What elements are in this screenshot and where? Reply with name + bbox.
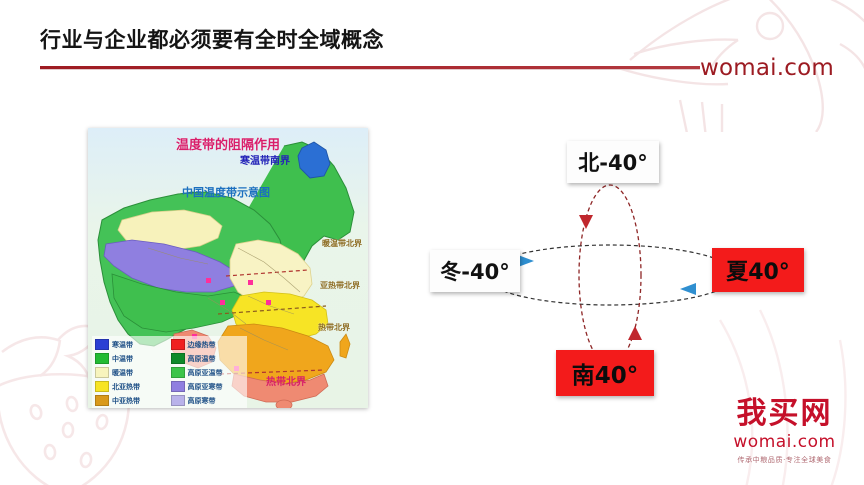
legend-label: 高原亚寒带 bbox=[188, 382, 223, 392]
legend-swatch bbox=[171, 367, 185, 378]
legend-label: 中亚热带 bbox=[112, 396, 140, 406]
legend-item: 边缘热带 bbox=[171, 338, 246, 351]
legend-label: 北亚热带 bbox=[112, 382, 140, 392]
vertical-arrow-up-icon bbox=[628, 326, 642, 340]
footer-logo-cn: 我买网 bbox=[712, 398, 857, 430]
footer-logo-tagline: 传承中粮品质·专注全球美食 bbox=[712, 455, 857, 465]
footer-logo-en: womai.com bbox=[712, 432, 857, 452]
legend-label: 高原亚温带 bbox=[188, 368, 223, 378]
legend-swatch bbox=[95, 339, 109, 350]
horizontal-arrow-left-icon bbox=[518, 255, 534, 267]
vertical-arrow-down-icon bbox=[579, 215, 593, 229]
page-title: 行业与企业都必须要有全时全域概念 bbox=[40, 24, 384, 54]
legend-label: 边缘热带 bbox=[188, 340, 216, 350]
legend-item: 中温带 bbox=[95, 352, 163, 365]
label-winter: 冬-40° bbox=[430, 250, 520, 292]
legend-swatch bbox=[171, 339, 185, 350]
slide-canvas: 行业与企业都必须要有全时全域概念 womai.com bbox=[0, 0, 864, 485]
china-temperature-zone-map: 温度带的阻隔作用 寒温带南界 中国温度带示意图 暖温带北界 亚热带北界 热带北界… bbox=[88, 128, 368, 408]
legend-item: 高原亚寒带 bbox=[171, 380, 246, 393]
footer-logo: 我买网 womai.com 传承中粮品质·专注全球美食 bbox=[712, 398, 857, 465]
legend-item: 中亚热带 bbox=[95, 394, 163, 407]
legend-swatch bbox=[95, 395, 109, 406]
map-boundary-label: 寒温带南界 bbox=[240, 152, 290, 167]
horizontal-arrow-right-icon bbox=[680, 283, 696, 295]
legend-label: 高原温带 bbox=[188, 354, 216, 364]
legend-swatch bbox=[171, 395, 185, 406]
map-bottom-label: 热带北界 bbox=[266, 373, 306, 388]
legend-swatch bbox=[95, 353, 109, 364]
map-chart-label: 中国温度带示意图 bbox=[182, 184, 270, 200]
legend-label: 中温带 bbox=[112, 354, 133, 364]
legend-label: 高原寒带 bbox=[188, 396, 216, 406]
title-divider bbox=[40, 66, 700, 69]
legend-item: 高原温带 bbox=[171, 352, 246, 365]
legend-swatch bbox=[95, 367, 109, 378]
legend-swatch bbox=[95, 381, 109, 392]
horizontal-orbit-ellipse bbox=[484, 245, 736, 305]
legend-item: 暖温带 bbox=[95, 366, 163, 379]
map-side-label-1: 暖温带北界 bbox=[322, 238, 362, 249]
legend-item: 高原寒带 bbox=[171, 394, 246, 407]
label-south: 南40° bbox=[556, 350, 654, 396]
legend-item: 高原亚温带 bbox=[171, 366, 246, 379]
legend-label: 寒温带 bbox=[112, 340, 133, 350]
legend-item: 寒温带 bbox=[95, 338, 163, 351]
map-side-label-3: 热带北界 bbox=[318, 322, 350, 333]
legend-item: 北亚热带 bbox=[95, 380, 163, 393]
label-summer: 夏40° bbox=[712, 248, 804, 292]
legend-label: 暖温带 bbox=[112, 368, 133, 378]
legend-swatch bbox=[171, 381, 185, 392]
map-side-label-2: 亚热带北界 bbox=[320, 280, 360, 291]
map-title: 温度带的阻隔作用 bbox=[176, 134, 280, 153]
legend-swatch bbox=[171, 353, 185, 364]
label-north: 北-40° bbox=[567, 141, 659, 183]
map-legend: 寒温带 边缘热带 中温带 高原温带 暖温带 高原亚温带 北亚热带 高原亚寒带 中… bbox=[92, 336, 247, 408]
brand-wordmark-top: womai.com bbox=[700, 55, 834, 81]
